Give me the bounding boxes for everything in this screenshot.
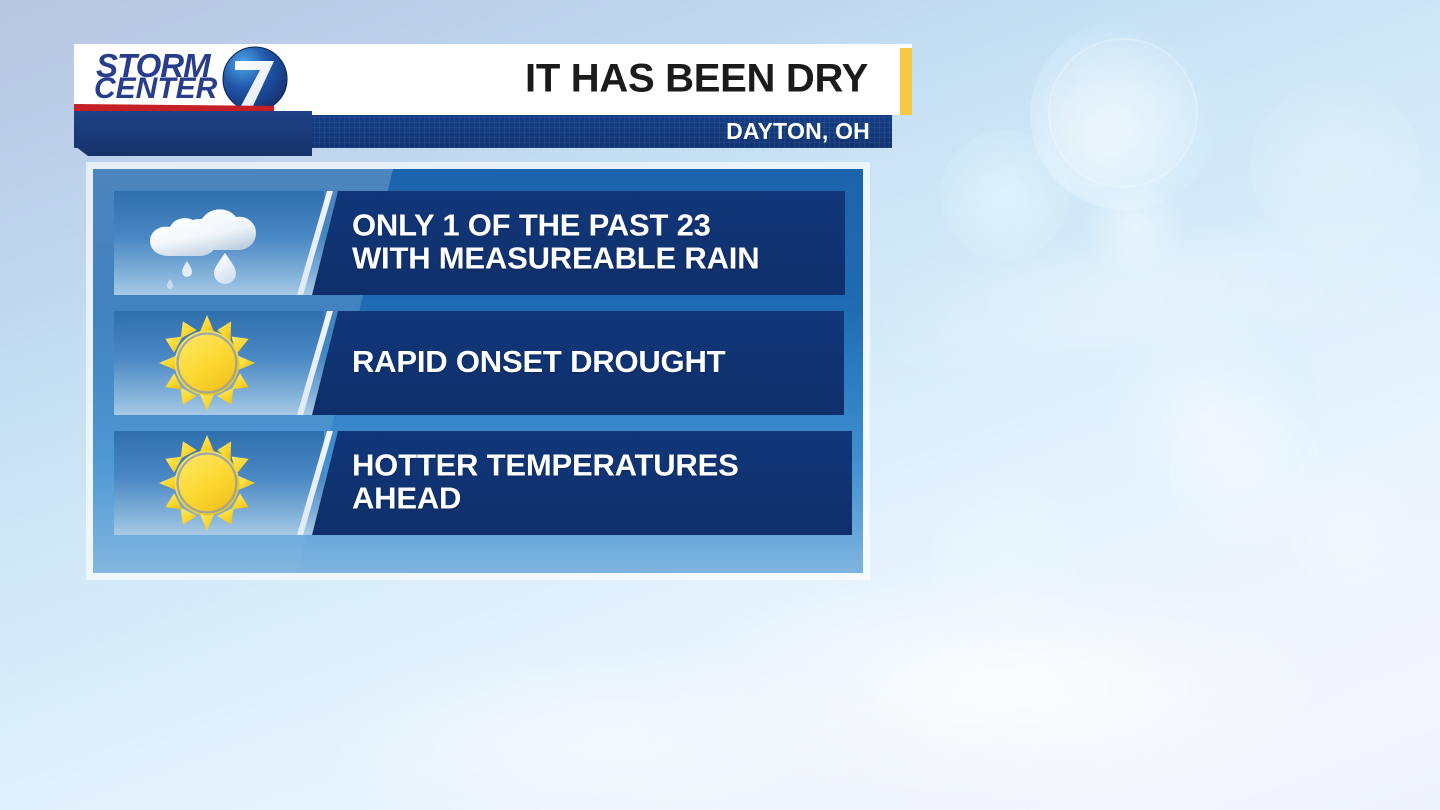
list-item[interactable]: ONLY 1 OF THE PAST 23 WITH MEASUREABLE R… bbox=[114, 191, 845, 295]
bokeh-circle bbox=[940, 130, 1070, 260]
lens-flare-glow bbox=[650, 560, 1350, 810]
logo-navy-base bbox=[74, 111, 312, 156]
icon-holder bbox=[132, 191, 282, 295]
bokeh-circle bbox=[1030, 20, 1220, 210]
list-item-label: RAPID ONSET DROUGHT bbox=[352, 346, 725, 379]
bokeh-circle bbox=[1170, 395, 1320, 545]
list-item[interactable]: RAPID ONSET DROUGHT bbox=[114, 311, 844, 415]
location-label: DAYTON, OH bbox=[726, 117, 870, 144]
weather-graphic-stage: IT HAS BEEN DRY DAYTON, OH STORM CENTER bbox=[0, 0, 1440, 810]
row-icon-background bbox=[114, 191, 324, 295]
logo-word-center: CENTER bbox=[94, 72, 217, 106]
header: IT HAS BEEN DRY DAYTON, OH STORM CENTER bbox=[74, 44, 912, 156]
page-title: IT HAS BEEN DRY bbox=[525, 56, 868, 101]
cloud-with-rain-icon bbox=[140, 197, 274, 289]
list-item-label: HOTTER TEMPERATURES AHEAD bbox=[352, 449, 739, 515]
lens-flare-glow bbox=[300, 640, 920, 810]
channel-7-badge-icon bbox=[222, 46, 288, 112]
bullet-panel: ONLY 1 OF THE PAST 23 WITH MEASUREABLE R… bbox=[93, 169, 863, 573]
bokeh-circle bbox=[1110, 300, 1320, 510]
list-item-label: ONLY 1 OF THE PAST 23 WITH MEASUREABLE R… bbox=[352, 209, 759, 275]
title-accent-bar bbox=[900, 48, 912, 115]
icon-holder bbox=[132, 311, 282, 415]
storm-center-7-logo: STORM CENTER bbox=[74, 44, 312, 156]
row-icon-background bbox=[114, 431, 324, 535]
bokeh-circle bbox=[930, 480, 1080, 630]
list-item[interactable]: HOTTER TEMPERATURES AHEAD bbox=[114, 431, 852, 535]
bokeh-circle bbox=[1250, 80, 1420, 250]
sun-icon bbox=[158, 314, 256, 412]
icon-holder bbox=[132, 431, 282, 535]
bokeh-circle bbox=[1048, 38, 1198, 188]
bullet-panel-frame: ONLY 1 OF THE PAST 23 WITH MEASUREABLE R… bbox=[86, 162, 870, 580]
sun-icon bbox=[158, 434, 256, 532]
bokeh-circle bbox=[1085, 178, 1185, 278]
lens-flare-streak bbox=[877, 221, 1440, 369]
row-icon-background bbox=[114, 311, 324, 415]
bokeh-circle bbox=[1290, 470, 1410, 590]
